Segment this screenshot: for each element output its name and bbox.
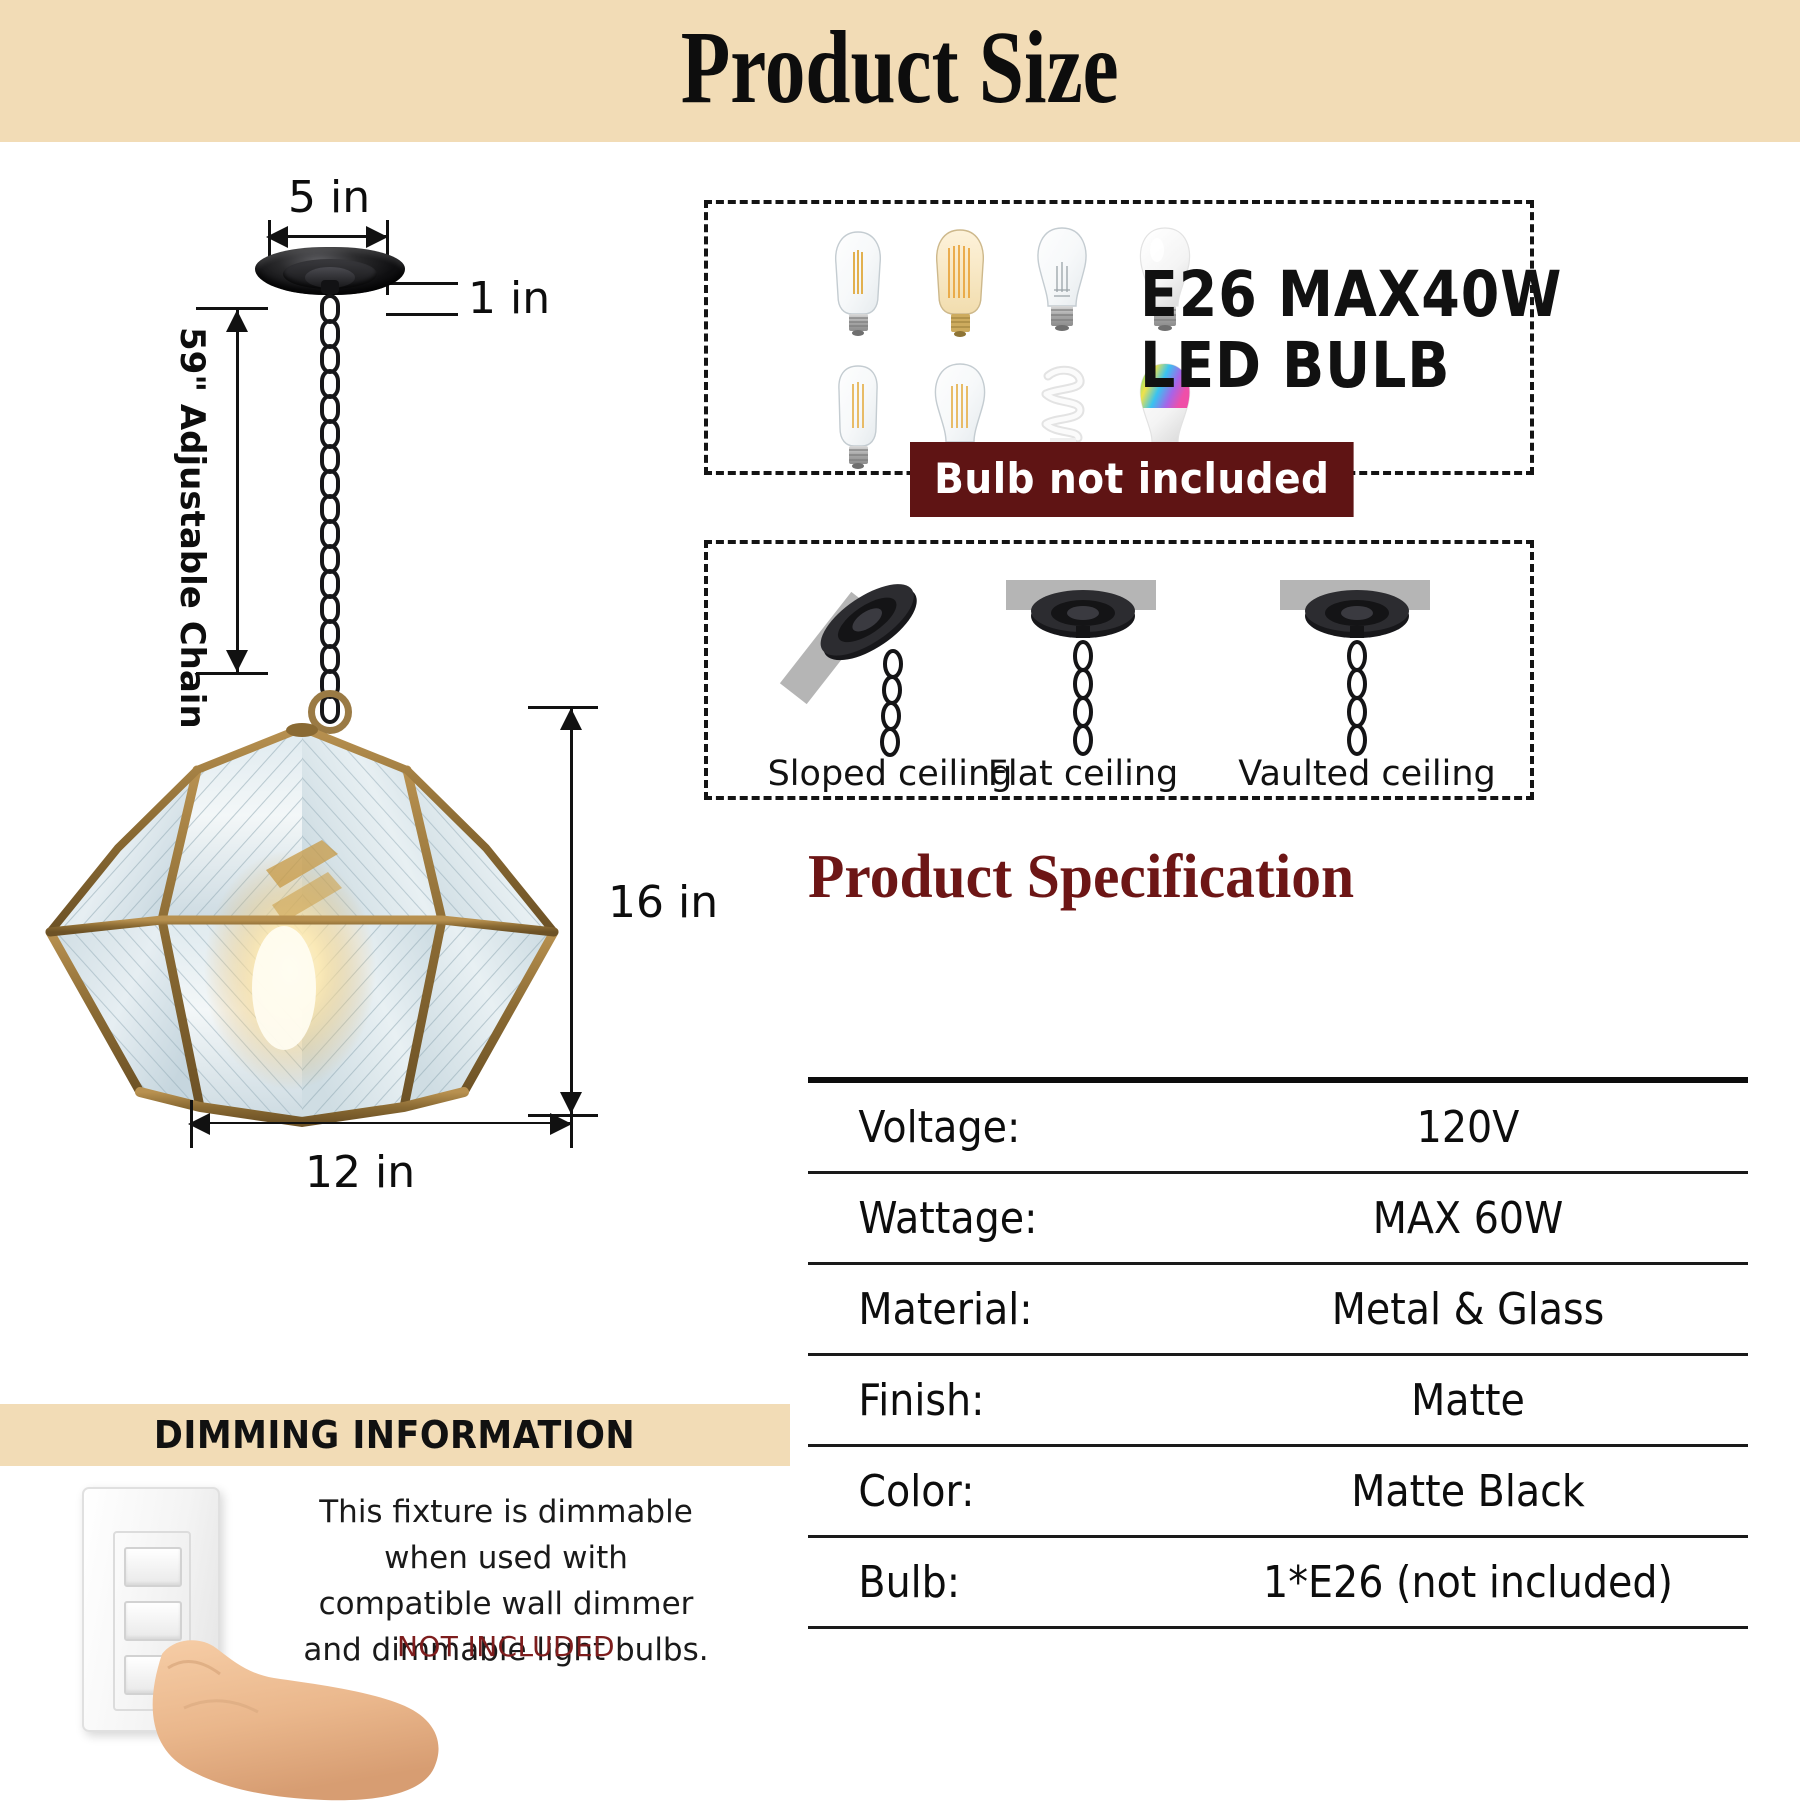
spec-row-material: Material: Metal & Glass (808, 1265, 1748, 1353)
shade-width-label: 12 in (305, 1147, 415, 1198)
product-diagram-panel: 5 in 1 in 59" Adjustable Chain (0, 142, 790, 1410)
t45-tube-filament-bulb (839, 366, 877, 469)
ceiling-canopy (255, 247, 405, 295)
spec-row-bulb: Bulb: 1*E26 (not included) (808, 1538, 1748, 1626)
bulb-type-headline: E26 MAX40W LED BULB (1140, 260, 1562, 401)
spec-row-finish: Finish: Matte (808, 1356, 1748, 1444)
dimming-banner-title: DIMMING INFORMATION (154, 1413, 635, 1457)
spec-value-wattage: MAX 60W (1216, 1193, 1720, 1244)
spec-value-material: Metal & Glass (1216, 1284, 1720, 1335)
vintage-amber-squirrel-cage-bulb (937, 230, 984, 337)
page-header: Product Size (0, 0, 1800, 142)
vaulted-ceiling-mount-icon (1282, 582, 1432, 762)
canopy-width-arrow-left (266, 226, 288, 248)
spec-value-finish: Matte (1216, 1375, 1720, 1426)
switch-rocker-top (124, 1547, 182, 1587)
flat-ceiling-mount-icon (1008, 582, 1158, 762)
shade-width-arrow-right (550, 1113, 572, 1135)
sloped-ceiling-mount-icon (790, 572, 970, 762)
canopy-width-arrow-right (366, 226, 388, 248)
bulb-headline-line2: LED BULB (1140, 331, 1562, 402)
chain-dim-line (236, 310, 239, 672)
chain-length-label: 59" Adjustable Chain (172, 327, 212, 729)
st64-clear-filament-bulb (836, 232, 881, 336)
flat-ceiling-label: Flat ceiling (953, 754, 1213, 794)
chain-dim-arrow-top (226, 310, 248, 332)
hanging-chain (317, 294, 343, 709)
bulb-headline-line1: E26 MAX40W (1140, 260, 1562, 331)
spec-key-wattage: Wattage: (808, 1193, 1150, 1244)
spec-key-voltage: Voltage: (808, 1102, 1150, 1153)
canopy-width-label: 5 in (288, 172, 370, 223)
spec-value-color: Matte Black (1216, 1466, 1720, 1517)
spec-table-bottom-rule (808, 1626, 1748, 1629)
incandescent-a19-bulb (1038, 228, 1086, 331)
shade-height-line (570, 708, 573, 1114)
spec-row-voltage: Voltage: 120V (808, 1083, 1748, 1171)
spec-value-bulb: 1*E26 (not included) (1216, 1557, 1720, 1608)
spec-key-color: Color: (808, 1466, 1150, 1517)
spec-value-voltage: 120V (1216, 1102, 1720, 1153)
canopy-loop (321, 280, 339, 294)
pendant-shade (22, 720, 582, 1160)
specification-table: Voltage: 120V Wattage: MAX 60W Material:… (808, 1077, 1748, 1629)
shade-width-arrow-left (188, 1113, 210, 1135)
bulb-not-included-badge: Bulb not included (910, 442, 1354, 517)
page-title: Product Size (681, 16, 1119, 120)
spec-row-wattage: Wattage: MAX 60W (808, 1174, 1748, 1262)
shade-height-arrow-top (560, 708, 582, 730)
spec-key-material: Material: (808, 1284, 1150, 1335)
dimming-banner: DIMMING INFORMATION (0, 1404, 790, 1466)
chain-dim-arrow-bottom (226, 650, 248, 672)
canopy-height-tick-top (386, 282, 458, 285)
spec-row-color: Color: Matte Black (808, 1447, 1748, 1535)
vaulted-ceiling-label: Vaulted ceiling (1222, 754, 1512, 794)
dimming-not-included-note: NOT INCLUDED (296, 1630, 716, 1663)
spec-key-bulb: Bulb: (808, 1557, 1150, 1608)
specification-title: Product Specification (808, 842, 1354, 913)
shade-width-line (190, 1122, 572, 1124)
shade-height-label: 16 in (608, 877, 718, 928)
canopy-height-tick-bottom (386, 313, 458, 316)
spec-key-finish: Finish: (808, 1375, 1150, 1426)
canopy-height-label: 1 in (468, 273, 550, 324)
